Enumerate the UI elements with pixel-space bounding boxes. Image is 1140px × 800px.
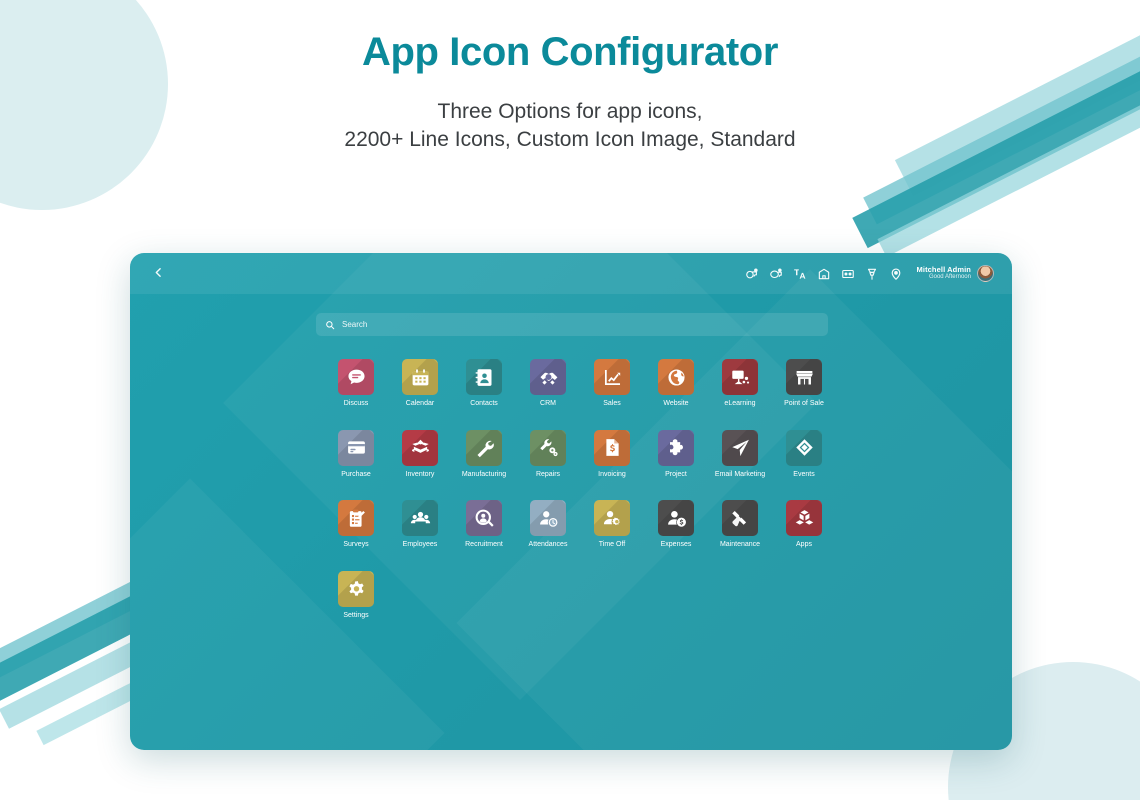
- page-title: App Icon Configurator: [0, 30, 1140, 74]
- app-tile-time-off[interactable]: Time Off: [580, 500, 644, 549]
- chevron-left-icon[interactable]: [152, 266, 165, 282]
- app-label: Point of Sale: [784, 400, 824, 408]
- app-label: Employees: [403, 541, 438, 549]
- apps-grid-icon[interactable]: [841, 267, 855, 281]
- app-window: Mitchell Admin Good Afternoon Search Dis…: [130, 253, 1012, 750]
- app-label: eLearning: [724, 400, 755, 408]
- hammer-icon[interactable]: [722, 500, 758, 536]
- app-label: Surveys: [343, 541, 368, 549]
- open-box-icon[interactable]: [402, 430, 438, 466]
- app-tile-crm[interactable]: CRM: [516, 359, 580, 408]
- app-label: Purchase: [341, 471, 371, 479]
- app-tile-point-of-sale[interactable]: Point of Sale: [772, 359, 836, 408]
- app-label: Invoicing: [598, 471, 626, 479]
- app-tile-project[interactable]: Project: [644, 430, 708, 479]
- calendar-icon[interactable]: [402, 359, 438, 395]
- app-tile-attendances[interactable]: Attendances: [516, 500, 580, 549]
- app-label: Contacts: [470, 400, 498, 408]
- app-tile-events[interactable]: Events: [772, 430, 836, 479]
- app-label: Inventory: [406, 471, 435, 479]
- app-label: Manufacturing: [462, 471, 506, 479]
- magnify-user-icon[interactable]: [466, 500, 502, 536]
- app-label: Time Off: [599, 541, 625, 549]
- page-subtitle: Three Options for app icons, 2200+ Line …: [0, 98, 1140, 155]
- app-tile-repairs[interactable]: Repairs: [516, 430, 580, 479]
- user-text: Mitchell Admin Good Afternoon: [917, 266, 971, 281]
- app-tile-sales[interactable]: Sales: [580, 359, 644, 408]
- user-menu[interactable]: Mitchell Admin Good Afternoon: [917, 265, 994, 282]
- chart-up-icon[interactable]: [594, 359, 630, 395]
- app-label: Events: [793, 471, 814, 479]
- app-label: Website: [663, 400, 688, 408]
- handshake-icon[interactable]: [530, 359, 566, 395]
- app-tile-discuss[interactable]: Discuss: [324, 359, 388, 408]
- app-tile-apps[interactable]: Apps: [772, 500, 836, 549]
- app-grid: DiscussCalendarContactsCRMSalesWebsiteeL…: [324, 359, 984, 620]
- globe-icon[interactable]: [658, 359, 694, 395]
- translate-icon[interactable]: [793, 267, 807, 281]
- messages-icon[interactable]: [769, 267, 783, 281]
- app-label: CRM: [540, 400, 556, 408]
- ticket-icon[interactable]: [786, 430, 822, 466]
- presentation-icon[interactable]: [722, 359, 758, 395]
- app-tile-elearning[interactable]: eLearning: [708, 359, 772, 408]
- paper-plane-icon[interactable]: [722, 430, 758, 466]
- app-tile-surveys[interactable]: Surveys: [324, 500, 388, 549]
- app-tile-purchase[interactable]: Purchase: [324, 430, 388, 479]
- app-tile-manufacturing[interactable]: Manufacturing: [452, 430, 516, 479]
- user-name: Mitchell Admin: [917, 266, 971, 274]
- avatar[interactable]: [977, 265, 994, 282]
- app-tile-employees[interactable]: Employees: [388, 500, 452, 549]
- window-topbar: Mitchell Admin Good Afternoon: [130, 253, 1012, 294]
- storefront-icon[interactable]: [786, 359, 822, 395]
- people-group-icon[interactable]: [402, 500, 438, 536]
- subtitle-line-2: 2200+ Line Icons, Custom Icon Image, Sta…: [0, 126, 1140, 154]
- app-tile-maintenance[interactable]: Maintenance: [708, 500, 772, 549]
- app-label: Attendances: [529, 541, 568, 549]
- subtitle-line-1: Three Options for app icons,: [0, 98, 1140, 126]
- chat-bubble-icon[interactable]: [338, 359, 374, 395]
- gear-icon[interactable]: [338, 571, 374, 607]
- search-row: Search: [130, 294, 1012, 336]
- location-pin-icon[interactable]: [889, 267, 903, 281]
- user-gear-icon[interactable]: [594, 500, 630, 536]
- search-input[interactable]: Search: [316, 313, 828, 336]
- search-placeholder: Search: [342, 320, 367, 329]
- app-label: Calendar: [406, 400, 434, 408]
- user-dollar-icon[interactable]: [658, 500, 694, 536]
- app-label: Expenses: [661, 541, 692, 549]
- bug-report-icon[interactable]: [865, 267, 879, 281]
- user-greeting: Good Afternoon: [917, 274, 971, 281]
- wrench-gear-icon[interactable]: [530, 430, 566, 466]
- app-tile-calendar[interactable]: Calendar: [388, 359, 452, 408]
- app-label: Project: [665, 471, 687, 479]
- clipboard-pen-icon[interactable]: [338, 500, 374, 536]
- app-label: Recruitment: [465, 541, 503, 549]
- app-tile-expenses[interactable]: Expenses: [644, 500, 708, 549]
- activities-icon[interactable]: [745, 267, 759, 281]
- invoice-icon[interactable]: [594, 430, 630, 466]
- app-tile-contacts[interactable]: Contacts: [452, 359, 516, 408]
- user-clock-icon[interactable]: [530, 500, 566, 536]
- app-tile-invoicing[interactable]: Invoicing: [580, 430, 644, 479]
- app-label: Discuss: [344, 400, 369, 408]
- app-tile-recruitment[interactable]: Recruitment: [452, 500, 516, 549]
- search-icon: [325, 320, 335, 330]
- credit-card-icon[interactable]: [338, 430, 374, 466]
- app-tile-settings[interactable]: Settings: [324, 571, 388, 620]
- blocks-icon[interactable]: [786, 500, 822, 536]
- app-label: Email Marketing: [715, 471, 765, 479]
- company-icon[interactable]: [817, 267, 831, 281]
- poster-headline: App Icon Configurator Three Options for …: [0, 30, 1140, 155]
- system-icon-tray: [745, 267, 903, 281]
- app-tile-website[interactable]: Website: [644, 359, 708, 408]
- wrench-icon[interactable]: [466, 430, 502, 466]
- app-label: Repairs: [536, 471, 560, 479]
- app-label: Maintenance: [720, 541, 760, 549]
- app-tile-inventory[interactable]: Inventory: [388, 430, 452, 479]
- puzzle-piece-icon[interactable]: [658, 430, 694, 466]
- app-tile-email-marketing[interactable]: Email Marketing: [708, 430, 772, 479]
- app-label: Settings: [343, 612, 368, 620]
- contact-card-icon[interactable]: [466, 359, 502, 395]
- app-label: Sales: [603, 400, 621, 408]
- app-label: Apps: [796, 541, 812, 549]
- poster-canvas: App Icon Configurator Three Options for …: [0, 0, 1140, 800]
